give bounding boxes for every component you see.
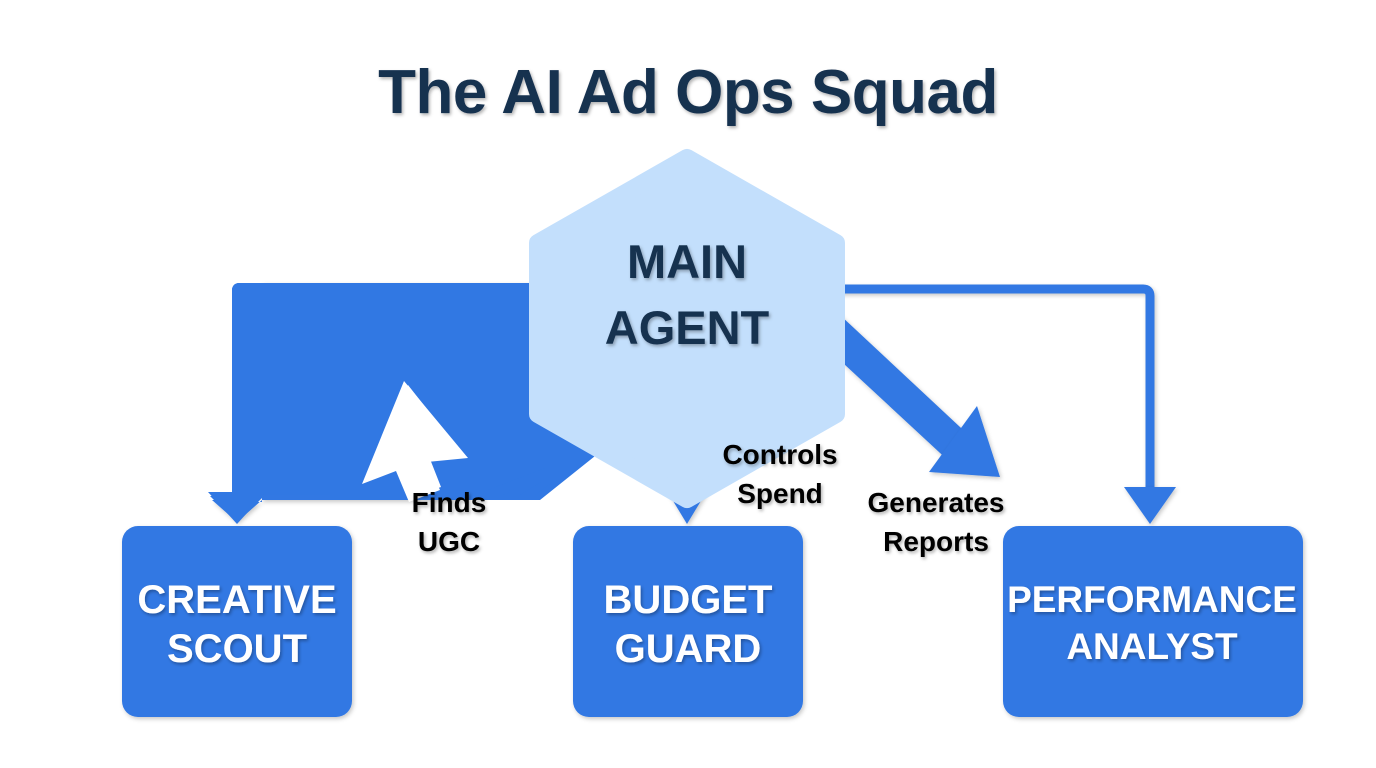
- budget-guard-label-line2: GUARD: [615, 627, 762, 671]
- diagram-canvas: The AI Ad Ops Squad: [0, 0, 1376, 768]
- main-agent-label-line2: AGENT: [605, 301, 770, 354]
- node-creative-scout[interactable]: CREATIVE SCOUT: [122, 526, 352, 717]
- finds-ugc-label-line2: UGC: [418, 526, 480, 557]
- edge-finds-ugc-arrowhead: [208, 492, 266, 524]
- performance-analyst-label-line1: PERFORMANCE: [1007, 579, 1297, 620]
- budget-guard-label-line1: BUDGET: [604, 578, 773, 622]
- controls-spend-label-line1: Controls: [722, 439, 837, 470]
- performance-analyst-box: [1003, 526, 1303, 717]
- creative-scout-label-line1: CREATIVE: [137, 578, 336, 622]
- controls-spend-label-line2: Spend: [737, 478, 823, 509]
- performance-analyst-label-line2: ANALYST: [1066, 626, 1238, 667]
- node-performance-analyst[interactable]: PERFORMANCE ANALYST: [1003, 526, 1303, 717]
- edge-performance-analyst-arrowhead: [1124, 487, 1176, 524]
- main-agent-label-line1: MAIN: [627, 235, 747, 288]
- edge-label-finds-ugc: Finds UGC: [412, 487, 487, 557]
- finds-ugc-label-line1: Finds: [412, 487, 487, 518]
- generates-reports-label-line2: Reports: [883, 526, 989, 557]
- ai-ad-ops-squad-diagram: The AI Ad Ops Squad: [0, 0, 1376, 768]
- edge-finds-ugc-rect-body: [232, 283, 510, 495]
- generates-reports-label-line1: Generates: [868, 487, 1005, 518]
- node-budget-guard[interactable]: BUDGET GUARD: [573, 526, 803, 717]
- creative-scout-label-line2: SCOUT: [167, 627, 307, 671]
- page-title: The AI Ad Ops Squad: [378, 58, 998, 127]
- edge-label-generates-reports: Generates Reports: [868, 487, 1005, 557]
